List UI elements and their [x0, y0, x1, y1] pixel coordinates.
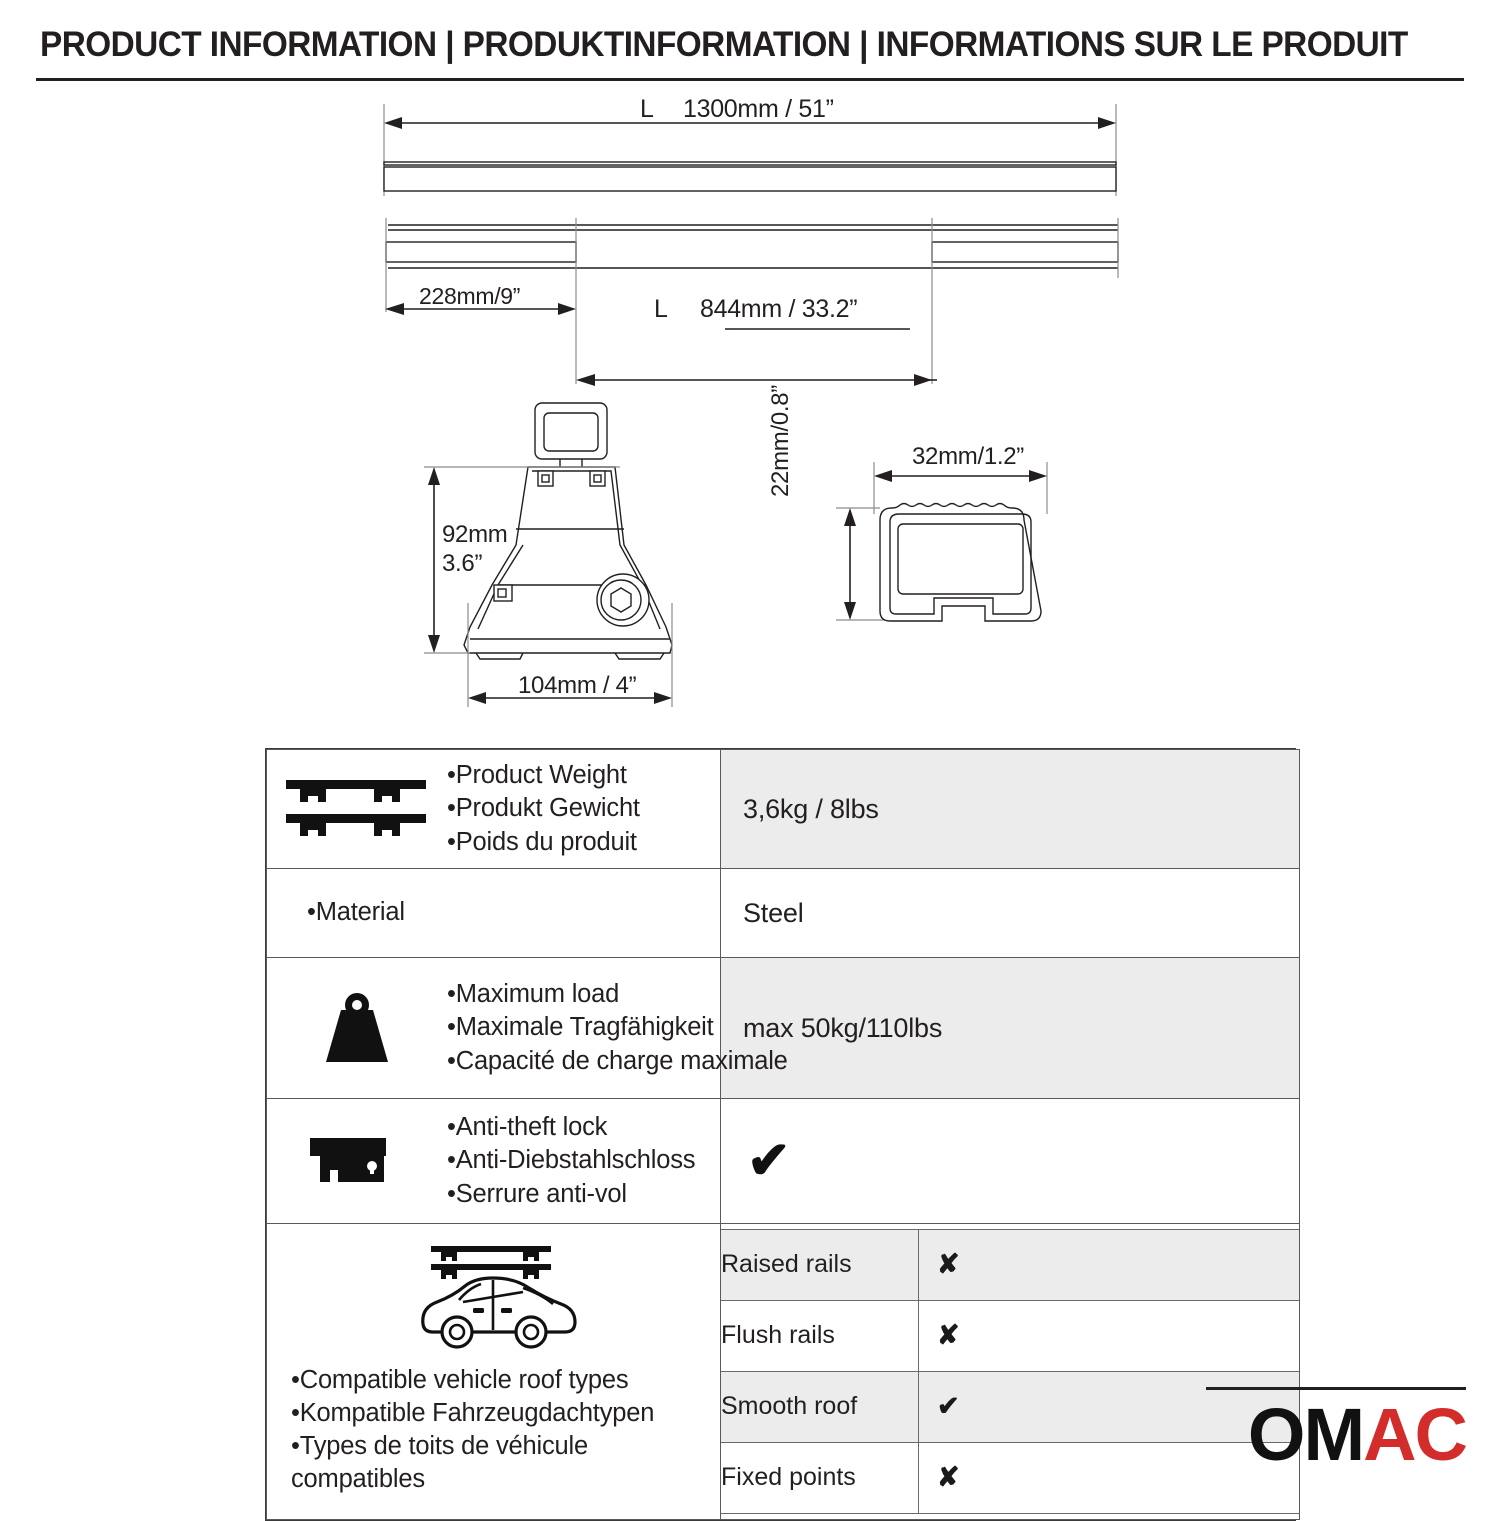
roof-type-name: Fixed points: [721, 1442, 919, 1513]
foot-height-value-line1: 92mm: [442, 521, 507, 549]
profile-height-value: 22mm/0.8”: [767, 337, 795, 497]
bar-length-label: L: [640, 95, 654, 124]
spread-value: 844mm / 33.2”: [700, 295, 857, 324]
product-info-sheet: PRODUCT INFORMATION | PRODUKTINFORMATION…: [0, 0, 1500, 1500]
profile-width-value: 32mm/1.2”: [912, 443, 1024, 471]
roof-type-row: Raised rails ✘: [721, 1229, 1299, 1300]
table-row: •Material Steel: [267, 869, 1300, 958]
omac-logo: OMAC: [1248, 1398, 1466, 1472]
anti-theft-mark: ✔: [721, 1135, 1299, 1187]
bar-length-value: 1300mm / 51”: [683, 95, 834, 124]
logo-divider: [1206, 1387, 1466, 1390]
roof-type-row: Fixed points ✘: [721, 1442, 1299, 1513]
label-fr: •Capacité de charge maximale: [447, 1045, 788, 1078]
roof-type-name: Flush rails: [721, 1300, 919, 1371]
row-labels: •Anti-theft lock •Anti-Diebstahlschloss …: [447, 1105, 720, 1216]
row-labels: •Product Weight •Produkt Gewicht •Poids …: [447, 753, 720, 864]
label-fr: •Types de toits de véhicule compatibles: [291, 1430, 704, 1496]
weight-icon: [267, 988, 447, 1068]
foot-height-value-line2: 3.6”: [442, 550, 482, 578]
roof-type-name: Smooth roof: [721, 1371, 919, 1442]
row-labels: •Maximum load •Maximale Tragfähigkeit •C…: [447, 972, 794, 1083]
label-de: •Anti-Diebstahlschloss: [447, 1144, 714, 1177]
label-de: •Kompatible Fahrzeugdachtypen: [291, 1397, 704, 1430]
label-en: •Anti-theft lock: [447, 1111, 714, 1144]
page-title: PRODUCT INFORMATION | PRODUKTINFORMATION…: [40, 24, 1384, 65]
roof-type-mark: ✘: [919, 1462, 1299, 1493]
logo-text-red: AC: [1363, 1393, 1466, 1476]
label-en: •Maximum load: [447, 978, 788, 1011]
lock-icon: [267, 1130, 447, 1192]
label-fr: •Poids du produit: [447, 826, 714, 859]
roof-type-name: Raised rails: [721, 1229, 919, 1300]
foot-offset-value: 228mm/9”: [419, 283, 520, 310]
logo-text-dark: OM: [1248, 1393, 1363, 1476]
spread-label: L: [654, 295, 668, 324]
max-load-value: max 50kg/110lbs: [721, 1013, 1299, 1044]
crossbars-icon: [267, 772, 447, 846]
foot-width-value: 104mm / 4”: [518, 672, 636, 700]
roof-type-mark: ✘: [919, 1320, 1299, 1351]
roof-type-mark: ✔: [919, 1391, 1299, 1422]
row-labels: •Material: [267, 890, 720, 935]
table-row: •Product Weight •Produkt Gewicht •Poids …: [267, 750, 1300, 869]
label-en: •Compatible vehicle roof types: [291, 1364, 704, 1397]
table-row: •Anti-theft lock •Anti-Diebstahlschloss …: [267, 1099, 1300, 1224]
label-en: •Material: [307, 896, 714, 929]
roof-type-subtable: Raised rails ✘ Flush rails ✘ Smooth roof…: [721, 1229, 1299, 1514]
roof-types-labels: •Compatible vehicle roof types •Kompatib…: [277, 1358, 710, 1503]
table-row: •Maximum load •Maximale Tragfähigkeit •C…: [267, 958, 1300, 1099]
label-fr: •Serrure anti-vol: [447, 1178, 714, 1211]
label-de: •Maximale Tragfähigkeit: [447, 1011, 788, 1044]
car-with-rack-icon: [277, 1238, 710, 1358]
roof-type-mark: ✘: [919, 1249, 1299, 1280]
roof-type-row: Smooth roof ✔: [721, 1371, 1299, 1442]
table-row-roof-types: •Compatible vehicle roof types •Kompatib…: [267, 1224, 1300, 1520]
label-de: •Produkt Gewicht: [447, 792, 714, 825]
profile-cross-section-drawing: [800, 440, 1100, 650]
product-weight-value: 3,6kg / 8lbs: [721, 794, 1299, 825]
material-value: Steel: [721, 898, 1299, 929]
roof-type-row: Flush rails ✘: [721, 1300, 1299, 1371]
spec-table: •Product Weight •Produkt Gewicht •Poids …: [265, 748, 1296, 1521]
label-en: •Product Weight: [447, 759, 714, 792]
header-divider: [36, 78, 1464, 81]
